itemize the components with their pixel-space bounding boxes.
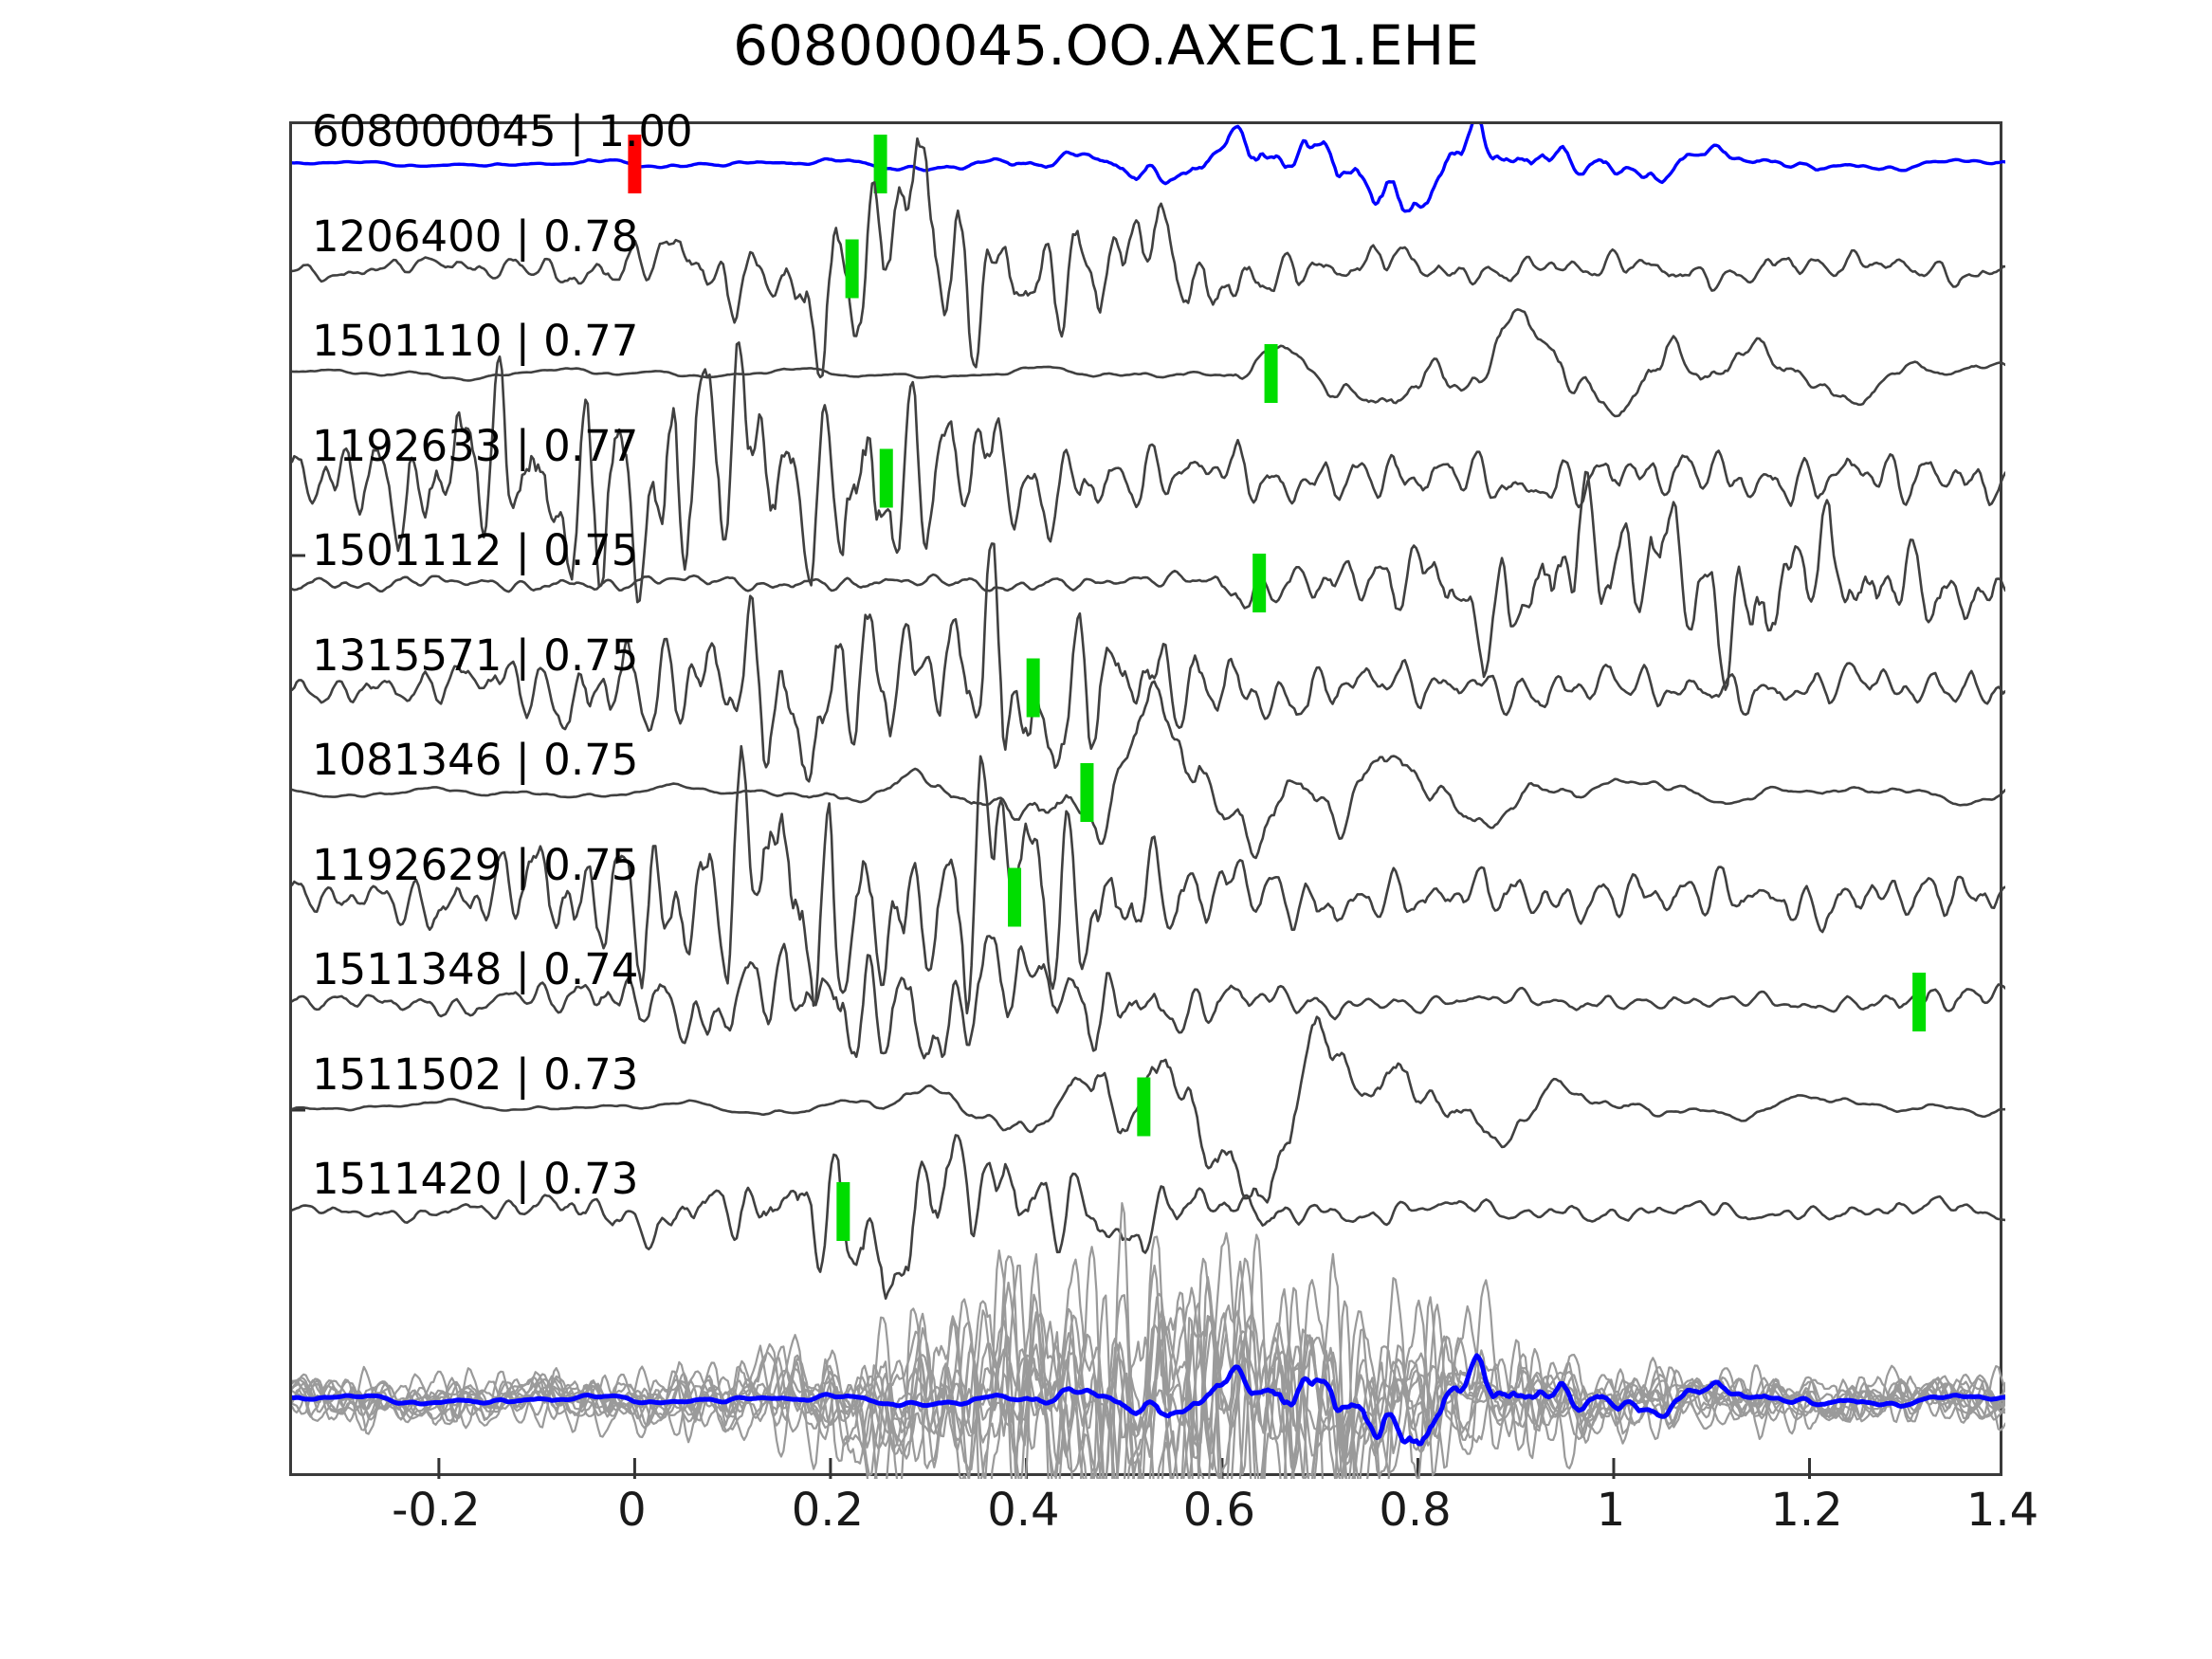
- pick-marker-1192629: [1008, 868, 1021, 927]
- x-tick-label-6: 1: [1597, 1484, 1626, 1537]
- waveform-trace-1511348: [292, 936, 2005, 1058]
- pick-marker-1511420: [836, 1182, 850, 1241]
- x-tick-label-0: -0.2: [392, 1484, 481, 1537]
- pick-marker-608000045: [628, 135, 641, 193]
- pick-marker-1081346: [1080, 763, 1093, 822]
- pick-marker-1501112: [1252, 554, 1266, 612]
- x-tick-label-7: 1.2: [1770, 1484, 1842, 1537]
- pick-marker-1511502: [1137, 1078, 1150, 1137]
- x-tick-label-8: 1.4: [1966, 1484, 2038, 1537]
- seismic-waveform-figure: 608000045.OO.AXEC1.EHE 608000045 | 1.001…: [0, 0, 2212, 1659]
- plot-area: [289, 121, 2002, 1476]
- waveform-trace-1501110: [292, 309, 2005, 416]
- x-tick-label-5: 0.8: [1379, 1484, 1451, 1537]
- pick-marker-1315571: [1027, 659, 1040, 718]
- x-tick-label-3: 0.4: [987, 1484, 1059, 1537]
- waveform-trace-1206400: [292, 138, 2005, 377]
- x-tick-label-2: 0.2: [792, 1484, 864, 1537]
- waveform-trace-1192633: [292, 342, 2005, 602]
- pick-marker-1511348: [1912, 973, 1926, 1031]
- waveform-canvas: [292, 124, 2005, 1479]
- pick-marker-1501110: [1265, 344, 1278, 403]
- waveform-trace-1192629: [292, 746, 2005, 1013]
- waveform-trace-1511420: [292, 1135, 2005, 1298]
- page-title: 608000045.OO.AXEC1.EHE: [0, 13, 2212, 78]
- waveform-trace-608000045: [292, 124, 2005, 211]
- pick-marker-1192633: [880, 449, 893, 508]
- pick-marker-1206400: [846, 240, 859, 299]
- x-tick-label-4: 0.6: [1183, 1484, 1255, 1537]
- x-axis-tick-labels: -0.200.20.40.60.811.21.4: [289, 1484, 2002, 1559]
- x-tick-label-1: 0: [617, 1484, 647, 1537]
